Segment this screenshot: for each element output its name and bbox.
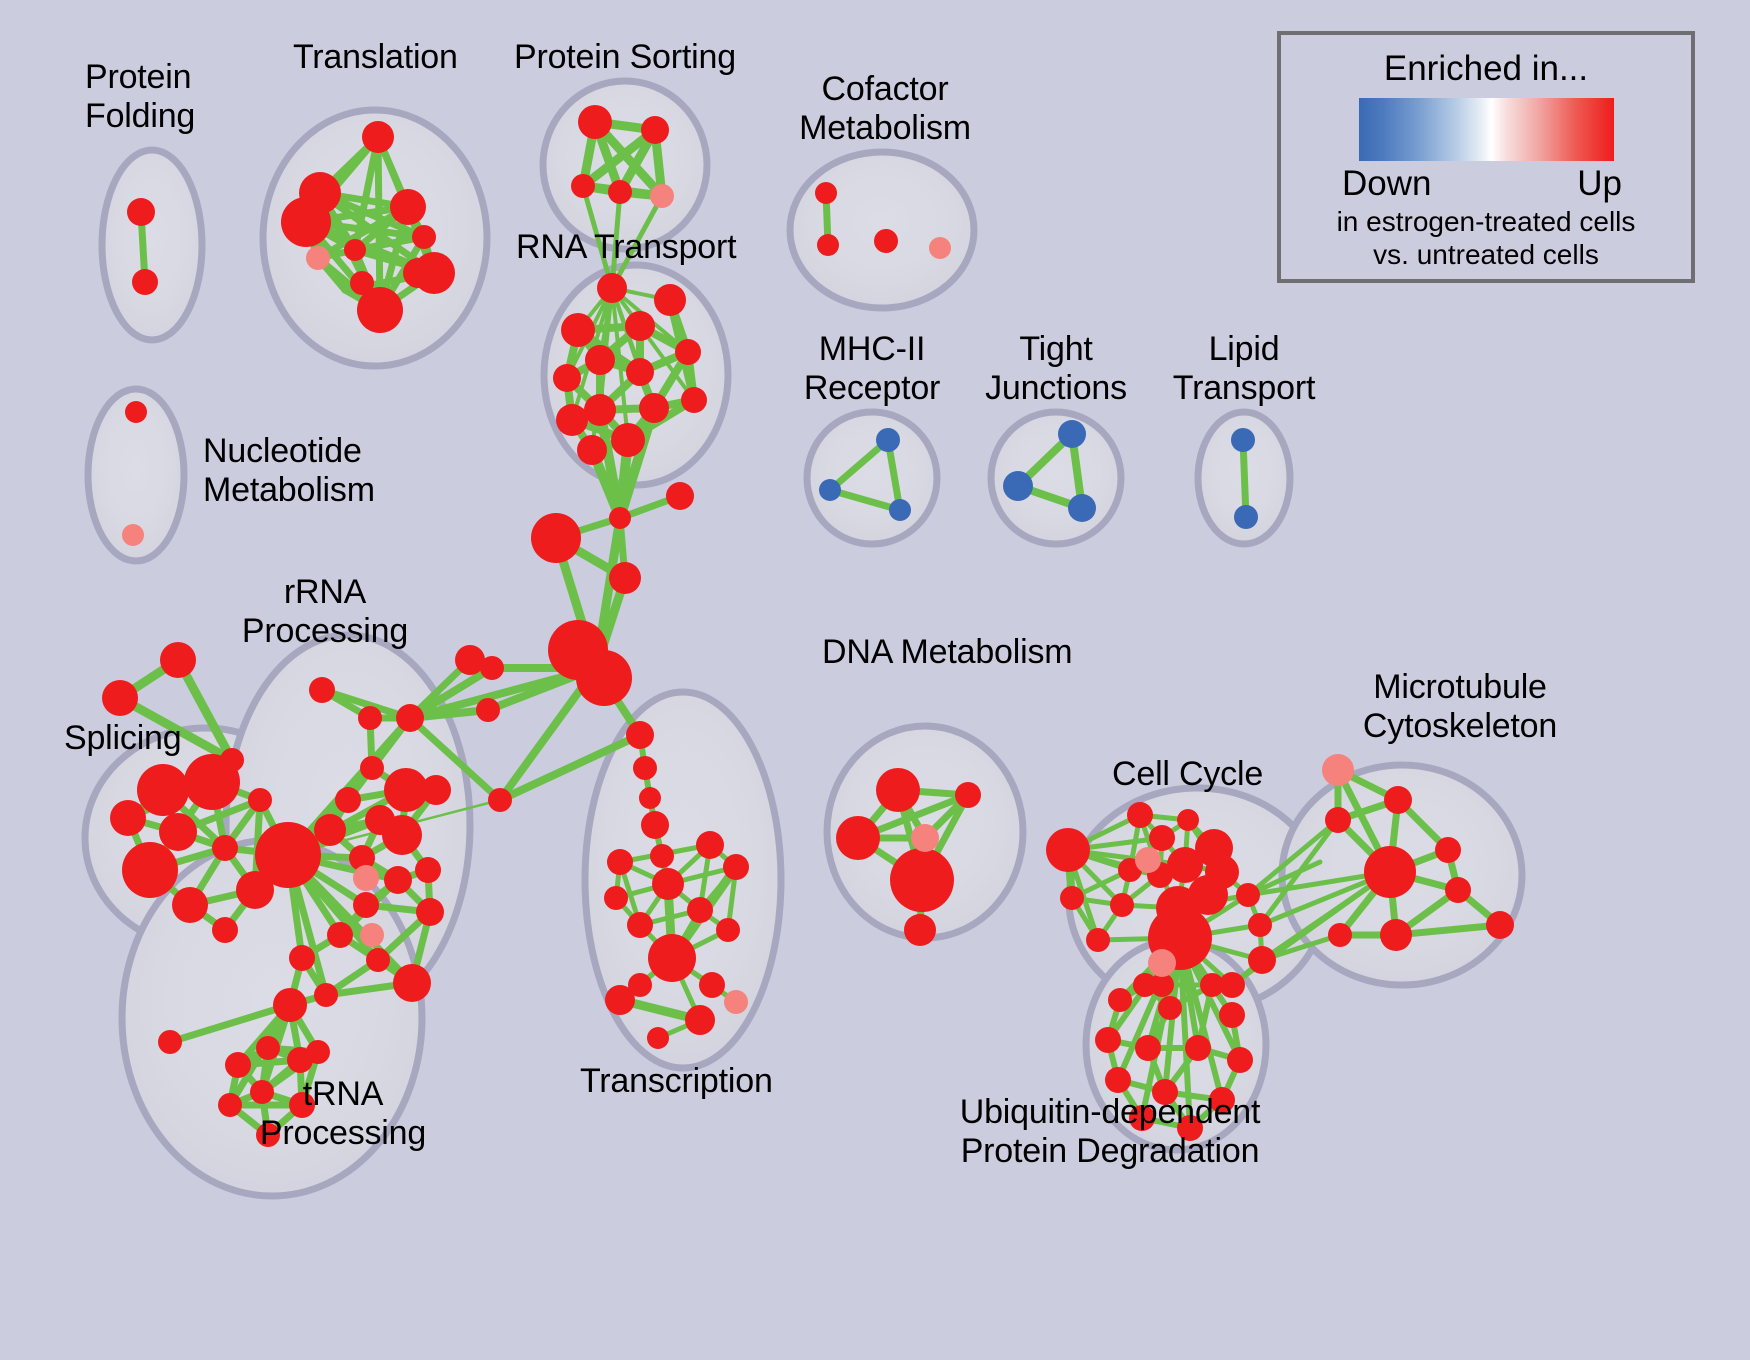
- node: [584, 394, 616, 426]
- node: [1380, 919, 1412, 951]
- node: [607, 849, 633, 875]
- node: [836, 816, 880, 860]
- node: [1148, 949, 1176, 977]
- node: [1158, 996, 1182, 1020]
- node: [225, 1052, 251, 1078]
- node: [360, 923, 384, 947]
- node: [626, 721, 654, 749]
- node: [137, 764, 189, 816]
- node: [1185, 1035, 1211, 1061]
- node: [1231, 428, 1255, 452]
- node: [1328, 923, 1352, 947]
- node: [681, 387, 707, 413]
- node: [289, 1092, 315, 1118]
- node: [1227, 1047, 1253, 1073]
- node: [416, 898, 444, 926]
- node: [1127, 802, 1153, 828]
- node: [585, 345, 615, 375]
- node: [604, 886, 628, 910]
- enrichment-network-figure: Protein Folding Translation Protein Sort…: [0, 0, 1750, 1360]
- node: [110, 800, 146, 836]
- node: [273, 988, 307, 1022]
- node: [647, 1027, 669, 1049]
- node: [531, 513, 581, 563]
- node: [675, 339, 701, 365]
- node: [1177, 1115, 1203, 1141]
- node: [255, 822, 321, 888]
- node: [476, 698, 500, 722]
- node: [654, 284, 686, 316]
- node: [1149, 825, 1175, 851]
- node: [360, 756, 384, 780]
- node: [890, 848, 954, 912]
- node: [122, 524, 144, 546]
- node: [160, 642, 196, 678]
- node: [633, 756, 657, 780]
- node: [1177, 809, 1199, 831]
- legend-color-gradient-bar: [1359, 98, 1614, 161]
- node: [1322, 754, 1354, 786]
- node: [1445, 877, 1471, 903]
- node: [1003, 471, 1033, 501]
- node: [1200, 973, 1224, 997]
- node: [666, 482, 694, 510]
- node: [626, 358, 654, 386]
- node: [1384, 786, 1412, 814]
- node: [1325, 807, 1351, 833]
- hull-mhc-ii-receptor: [807, 412, 937, 544]
- node: [1248, 913, 1272, 937]
- node: [597, 273, 627, 303]
- node: [455, 645, 485, 675]
- node: [184, 754, 240, 810]
- node: [306, 246, 330, 270]
- node: [1046, 828, 1090, 872]
- node: [699, 972, 725, 998]
- node: [1058, 420, 1086, 448]
- node: [212, 835, 238, 861]
- node: [1110, 893, 1134, 917]
- node: [874, 229, 898, 253]
- node: [256, 1123, 280, 1147]
- node: [1068, 494, 1096, 522]
- node: [1129, 1105, 1155, 1131]
- node: [815, 182, 837, 204]
- node: [366, 948, 390, 972]
- node: [421, 775, 451, 805]
- node: [327, 922, 353, 948]
- node: [212, 917, 238, 943]
- node: [250, 1080, 274, 1104]
- node: [353, 892, 379, 918]
- node: [577, 435, 607, 465]
- node: [687, 897, 713, 923]
- node: [819, 479, 841, 501]
- node: [889, 499, 911, 521]
- node: [648, 934, 696, 982]
- node: [556, 404, 588, 436]
- node: [218, 1093, 242, 1117]
- node: [396, 704, 424, 732]
- node: [362, 121, 394, 153]
- node: [1188, 875, 1228, 915]
- node: [696, 831, 724, 859]
- node: [1248, 946, 1276, 974]
- node: [1086, 928, 1110, 952]
- node: [641, 116, 669, 144]
- node: [289, 945, 315, 971]
- node: [1095, 1027, 1121, 1053]
- node: [553, 364, 581, 392]
- node: [611, 423, 645, 457]
- node: [125, 401, 147, 423]
- node: [382, 815, 422, 855]
- node: [335, 787, 361, 813]
- node: [627, 912, 653, 938]
- node: [955, 782, 981, 808]
- node: [1152, 1079, 1178, 1105]
- legend-subtitle-line1: in estrogen-treated cells: [1337, 205, 1636, 238]
- hull-protein-sorting: [543, 81, 707, 249]
- node: [723, 854, 749, 880]
- node: [172, 887, 208, 923]
- node: [578, 105, 612, 139]
- node: [488, 788, 512, 812]
- node: [625, 311, 655, 341]
- node: [132, 269, 158, 295]
- node: [281, 197, 331, 247]
- node: [314, 814, 346, 846]
- node: [904, 914, 936, 946]
- node: [929, 237, 951, 259]
- legend-down-label: Down: [1342, 164, 1431, 204]
- node: [561, 313, 595, 347]
- node: [393, 964, 431, 1002]
- node: [102, 680, 138, 716]
- node: [650, 844, 674, 868]
- node: [248, 788, 272, 812]
- node: [876, 428, 900, 452]
- node: [609, 507, 631, 529]
- node: [306, 1040, 330, 1064]
- node: [576, 650, 632, 706]
- node: [1133, 973, 1157, 997]
- node: [608, 180, 632, 204]
- node: [1135, 1035, 1161, 1061]
- legend-panel: Enriched in... Down Up in estrogen-treat…: [1277, 31, 1695, 283]
- node: [817, 234, 839, 256]
- node: [911, 824, 939, 852]
- legend-title: Enriched in...: [1384, 49, 1588, 89]
- node: [256, 1036, 280, 1060]
- node: [357, 287, 403, 333]
- node: [641, 811, 669, 839]
- node: [716, 918, 740, 942]
- node: [353, 865, 379, 891]
- node: [412, 225, 436, 249]
- node: [1060, 886, 1084, 910]
- node: [127, 198, 155, 226]
- node: [1236, 883, 1260, 907]
- node: [314, 983, 338, 1007]
- node: [876, 768, 920, 812]
- node: [122, 842, 178, 898]
- node: [390, 189, 426, 225]
- legend-up-label: Up: [1577, 164, 1622, 204]
- node: [1486, 911, 1514, 939]
- node: [1234, 505, 1258, 529]
- node: [1209, 1087, 1235, 1113]
- node: [1105, 1067, 1131, 1093]
- node: [571, 174, 595, 198]
- node: [358, 706, 382, 730]
- hull-protein-folding: [102, 150, 202, 340]
- node: [605, 985, 635, 1015]
- legend-endpoint-labels: Down Up: [1336, 164, 1636, 204]
- node: [1435, 837, 1461, 863]
- node: [724, 990, 748, 1014]
- node: [344, 239, 366, 261]
- node: [652, 868, 684, 900]
- node: [1364, 846, 1416, 898]
- node: [685, 1005, 715, 1035]
- node: [639, 787, 661, 809]
- node: [650, 184, 674, 208]
- node: [309, 677, 335, 703]
- node: [159, 813, 197, 851]
- node: [1135, 847, 1161, 873]
- node: [158, 1030, 182, 1054]
- node: [415, 857, 441, 883]
- node: [609, 562, 641, 594]
- legend-subtitle-line2: vs. untreated cells: [1337, 238, 1636, 271]
- node: [1108, 988, 1132, 1012]
- node: [413, 252, 455, 294]
- legend-subtitle: in estrogen-treated cells vs. untreated …: [1337, 205, 1636, 271]
- node: [1219, 1002, 1245, 1028]
- node: [384, 866, 412, 894]
- node: [639, 393, 669, 423]
